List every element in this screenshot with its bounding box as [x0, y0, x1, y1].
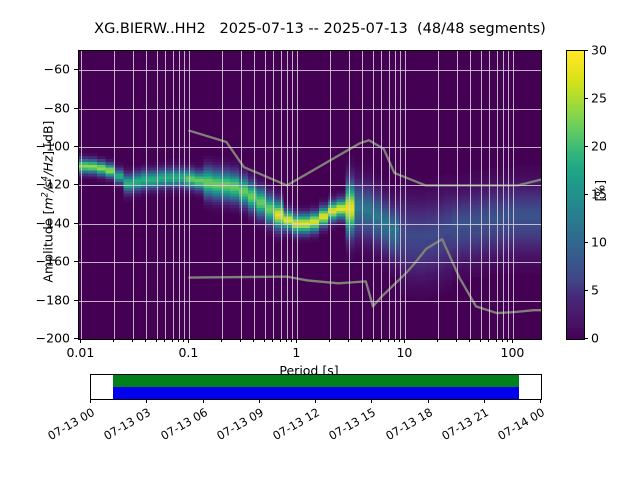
density-cell [532, 199, 541, 202]
density-cell [203, 199, 212, 202]
density-cell [532, 257, 541, 260]
density-cell [337, 211, 346, 214]
density-cell [461, 202, 470, 205]
density-cell [230, 162, 239, 165]
density-cell [497, 231, 506, 234]
density-cell [310, 205, 319, 208]
x-gridline-minor [273, 51, 274, 339]
density-cell [497, 199, 506, 202]
density-cell [408, 228, 417, 231]
density-cell [115, 179, 124, 182]
density-cell [532, 271, 541, 274]
density-cell [212, 202, 221, 205]
density-cell [461, 257, 470, 260]
density-cell [443, 283, 452, 286]
density-cell [497, 240, 506, 243]
y-gridline [79, 109, 541, 110]
density-cell [417, 289, 426, 292]
density-cell [337, 191, 346, 194]
density-cell [408, 291, 417, 294]
density-cell [195, 165, 204, 168]
density-cell [408, 283, 417, 286]
density-cell [319, 234, 328, 237]
x-gridline [297, 51, 298, 339]
density-cell [443, 211, 452, 214]
density-cell [363, 191, 372, 194]
density-cell [497, 234, 506, 237]
density-cell [426, 277, 435, 280]
density-cell [97, 156, 106, 159]
density-cell [408, 205, 417, 208]
density-cell [532, 228, 541, 231]
density-cell [319, 225, 328, 228]
density-cell [532, 208, 541, 211]
density-cell [426, 191, 435, 194]
density-cell [417, 199, 426, 202]
x-gridline-minor [395, 51, 396, 339]
density-cell [88, 156, 97, 159]
density-cell [274, 211, 283, 214]
density-cell [461, 176, 470, 179]
density-cell [346, 248, 355, 251]
density-cell [346, 225, 355, 228]
density-cell [310, 214, 319, 217]
density-cell [443, 274, 452, 277]
timeline-tick-label: 07-14 00 [493, 405, 547, 444]
colorbar-tick [584, 290, 588, 291]
density-cell [417, 274, 426, 277]
x-gridline-minor [470, 51, 471, 339]
x-axis-tick-minor [502, 339, 503, 342]
density-cell [274, 191, 283, 194]
density-cell [203, 196, 212, 199]
timeline-tick-label: 07-13 15 [324, 405, 378, 444]
density-cell [363, 245, 372, 248]
density-cell [203, 179, 212, 182]
density-cell [523, 196, 532, 199]
x-gridline-minor [241, 51, 242, 339]
x-axis-tick-minor [221, 339, 222, 342]
density-cell [408, 234, 417, 237]
density-cell [426, 286, 435, 289]
density-cell [310, 208, 319, 211]
density-cell [274, 228, 283, 231]
density-cell [461, 240, 470, 243]
density-cell [212, 196, 221, 199]
density-cell [363, 219, 372, 222]
density-cell [514, 245, 523, 248]
x-axis-tick-minor [145, 339, 146, 342]
density-cell [443, 205, 452, 208]
density-cell [417, 205, 426, 208]
timeline-segment-data-coverage [113, 387, 520, 399]
x-gridline [405, 51, 406, 339]
colorbar-tick-label: 20 [591, 139, 607, 154]
x-gridline-minor [373, 51, 374, 339]
density-cell [212, 162, 221, 165]
density-cell [408, 245, 417, 248]
density-cell [426, 214, 435, 217]
density-cell [443, 277, 452, 280]
density-cell [532, 165, 541, 168]
x-axis-tick-minor [172, 339, 173, 342]
density-cell [514, 191, 523, 194]
density-cell [212, 168, 221, 171]
density-cell [417, 266, 426, 269]
density-cell [337, 202, 346, 205]
density-cell [212, 208, 221, 211]
y-axis-tick-label: −100 [36, 139, 70, 154]
x-gridline [513, 51, 514, 339]
density-cell [346, 240, 355, 243]
density-cell [408, 191, 417, 194]
x-gridline-minor [330, 51, 331, 339]
density-cell [461, 245, 470, 248]
density-cell [426, 271, 435, 274]
density-cell [195, 179, 204, 182]
density-cell [97, 165, 106, 168]
y-axis-label: Amplitude [m2/s4/Hz] [dB] [40, 82, 55, 322]
density-cell [310, 202, 319, 205]
x-axis-tick-label: 100 [500, 345, 524, 360]
density-cell [532, 202, 541, 205]
x-gridline-minor [133, 51, 134, 339]
density-cell [443, 237, 452, 240]
density-cell [443, 268, 452, 271]
density-cell [532, 173, 541, 176]
y-gridline [79, 70, 541, 71]
x-axis-tick-minor [132, 339, 133, 342]
x-axis-tick-minor [329, 339, 330, 342]
density-cell [301, 214, 310, 217]
density-cell [274, 234, 283, 237]
y-axis-tick-label: −160 [36, 254, 70, 269]
x-axis-tick-minor [480, 339, 481, 342]
colorbar-tick [584, 242, 588, 243]
density-cell [461, 266, 470, 269]
figure-canvas: XG.BIERW..HH2 2025-07-13 -- 2025-07-13 (… [0, 0, 640, 480]
density-cell [514, 208, 523, 211]
density-cell [497, 173, 506, 176]
density-cell [523, 234, 532, 237]
density-cell [443, 271, 452, 274]
density-cell [514, 214, 523, 217]
density-cell [461, 243, 470, 246]
density-cell [417, 231, 426, 234]
density-cell [417, 268, 426, 271]
x-gridline [189, 51, 190, 339]
density-cell [319, 196, 328, 199]
colorbar-tick-label: 30 [591, 43, 607, 58]
density-cell [363, 257, 372, 260]
density-cell [408, 194, 417, 197]
colorbar-tick-label: 10 [591, 235, 607, 250]
density-cell [443, 231, 452, 234]
density-cell [319, 205, 328, 208]
density-cell [363, 179, 372, 182]
density-cell [523, 231, 532, 234]
colorbar-tick [584, 50, 588, 51]
density-cell [514, 240, 523, 243]
density-cell [461, 248, 470, 251]
y-gridline [79, 301, 541, 302]
density-cell [346, 199, 355, 202]
y-gridline [79, 224, 541, 225]
x-axis-tick-major [512, 339, 513, 343]
x-axis-tick-major [80, 339, 81, 343]
density-cell [363, 225, 372, 228]
density-cell [346, 211, 355, 214]
density-cell [461, 211, 470, 214]
density-cell [497, 179, 506, 182]
density-cell [523, 240, 532, 243]
x-gridline-minor [265, 51, 266, 339]
density-cell [443, 176, 452, 179]
density-cell [523, 251, 532, 254]
density-cell [514, 243, 523, 246]
density-cell [337, 214, 346, 217]
density-cell [497, 237, 506, 240]
density-cell [514, 228, 523, 231]
density-cell [408, 196, 417, 199]
density-cell [514, 205, 523, 208]
density-cell [532, 168, 541, 171]
density-cell [461, 205, 470, 208]
timeline-tick [90, 399, 91, 403]
density-cell [417, 219, 426, 222]
density-cell [115, 176, 124, 179]
density-cell [443, 188, 452, 191]
y-axis-tick-label: −200 [36, 331, 70, 346]
density-cell [230, 165, 239, 168]
density-cell [417, 286, 426, 289]
density-cell [123, 173, 132, 176]
x-axis-tick-minor [240, 339, 241, 342]
x-gridline-minor [481, 51, 482, 339]
timeline-tick [146, 399, 147, 403]
density-cell [523, 173, 532, 176]
density-cell [523, 168, 532, 171]
x-axis-tick-major [188, 339, 189, 343]
density-cell [212, 188, 221, 191]
density-cell [532, 240, 541, 243]
colorbar-tick [584, 146, 588, 147]
density-cell [532, 245, 541, 248]
density-cell [417, 245, 426, 248]
timeline-tick [371, 399, 372, 403]
density-cell [337, 208, 346, 211]
timeline-tick [428, 399, 429, 403]
density-cell [514, 248, 523, 251]
density-cell [319, 214, 328, 217]
density-cell [274, 225, 283, 228]
density-cell [514, 268, 523, 271]
density-cell [461, 225, 470, 228]
x-gridline-minor [489, 51, 490, 339]
density-cell [417, 194, 426, 197]
density-cell [408, 251, 417, 254]
density-cell [97, 168, 106, 171]
x-gridline-minor [281, 51, 282, 339]
density-cell [274, 217, 283, 220]
density-cell [461, 251, 470, 254]
density-cell [426, 225, 435, 228]
density-cell [523, 257, 532, 260]
density-cell [319, 219, 328, 222]
colorbar-tick [584, 194, 588, 195]
density-cell [417, 243, 426, 246]
density-cell [523, 165, 532, 168]
ppsd-density-overlay [79, 51, 541, 339]
density-cell [346, 243, 355, 246]
density-cell [514, 173, 523, 176]
density-cell [443, 199, 452, 202]
timeline-tick [540, 399, 541, 403]
density-cell [443, 228, 452, 231]
density-cell [123, 194, 132, 197]
density-cell [461, 231, 470, 234]
density-cell [426, 289, 435, 292]
x-axis-tick-minor [280, 339, 281, 342]
density-cell [346, 205, 355, 208]
density-cell [461, 237, 470, 240]
timeline-tick-label: 07-13 12 [268, 405, 322, 444]
density-cell [532, 237, 541, 240]
density-cell [123, 179, 132, 182]
colorbar-tick-label: 0 [591, 331, 599, 346]
x-gridline-minor [254, 51, 255, 339]
y-axis-tick [74, 108, 78, 109]
density-cell [408, 294, 417, 297]
density-cell [310, 225, 319, 228]
timeline-tick-label: 07-13 06 [156, 405, 210, 444]
density-cell [79, 176, 88, 179]
density-cell [346, 179, 355, 182]
density-cell [461, 199, 470, 202]
density-cell [426, 179, 435, 182]
density-cell [212, 191, 221, 194]
density-cell [417, 277, 426, 280]
density-cell [461, 194, 470, 197]
density-cell [417, 291, 426, 294]
density-cell [426, 268, 435, 271]
density-cell [363, 196, 372, 199]
colorbar-tick-label: 15 [591, 187, 607, 202]
density-cell [337, 199, 346, 202]
x-gridline-minor [381, 51, 382, 339]
timeline-coverage-bar[interactable] [90, 374, 542, 400]
density-cell [426, 199, 435, 202]
density-cell [408, 286, 417, 289]
density-cell [363, 240, 372, 243]
density-cell [346, 202, 355, 205]
density-cell [301, 219, 310, 222]
density-cell [532, 231, 541, 234]
density-cell [274, 196, 283, 199]
density-cell [532, 188, 541, 191]
density-cell [230, 211, 239, 214]
density-cell [497, 194, 506, 197]
density-cell [532, 176, 541, 179]
x-axis-tick-minor [253, 339, 254, 342]
density-cell [230, 205, 239, 208]
density-cell [363, 194, 372, 197]
x-axis-tick-minor [113, 339, 114, 342]
x-axis-tick-minor [291, 339, 292, 342]
density-cell [123, 196, 132, 199]
density-cell [532, 248, 541, 251]
density-cell [514, 168, 523, 171]
density-cell [497, 251, 506, 254]
density-cell [417, 191, 426, 194]
colorbar-tick [584, 98, 588, 99]
density-cell [408, 237, 417, 240]
density-cell [426, 202, 435, 205]
density-cell [212, 173, 221, 176]
density-cell [532, 243, 541, 246]
density-cell [532, 234, 541, 237]
density-cell [159, 191, 168, 194]
x-gridline-minor [497, 51, 498, 339]
density-cell [497, 211, 506, 214]
y-axis-tick [74, 261, 78, 262]
density-cell [319, 208, 328, 211]
density-cell [461, 274, 470, 277]
density-cell [497, 219, 506, 222]
density-cell [514, 211, 523, 214]
density-cell [79, 156, 88, 159]
density-cell [426, 257, 435, 260]
density-cell [97, 162, 106, 165]
density-cell [274, 202, 283, 205]
x-axis-tick-minor [164, 339, 165, 342]
density-cell [123, 199, 132, 202]
density-cell [514, 234, 523, 237]
density-cell [523, 219, 532, 222]
density-cell [88, 165, 97, 168]
density-cell [497, 188, 506, 191]
density-cell [497, 217, 506, 220]
density-cell [497, 191, 506, 194]
density-cell [230, 179, 239, 182]
density-cell [212, 171, 221, 174]
density-cell [310, 219, 319, 222]
density-cell [497, 254, 506, 257]
density-cell [523, 237, 532, 240]
density-cell [230, 199, 239, 202]
density-cell [426, 291, 435, 294]
x-axis-tick-minor [348, 339, 349, 342]
density-cell [497, 248, 506, 251]
density-cell [532, 211, 541, 214]
density-cell [346, 196, 355, 199]
density-cell [159, 168, 168, 171]
y-axis-tick [74, 146, 78, 147]
timeline-tick [259, 399, 260, 403]
ppsd-plot-area[interactable] [78, 50, 542, 340]
density-cell [408, 240, 417, 243]
density-cell [319, 202, 328, 205]
density-cell [426, 237, 435, 240]
density-cell [159, 188, 168, 191]
density-cell [115, 171, 124, 174]
x-gridline-minor [165, 51, 166, 339]
density-cell [346, 208, 355, 211]
density-cell [363, 217, 372, 220]
density-cell [461, 179, 470, 182]
density-cell [346, 191, 355, 194]
density-cell [443, 266, 452, 269]
